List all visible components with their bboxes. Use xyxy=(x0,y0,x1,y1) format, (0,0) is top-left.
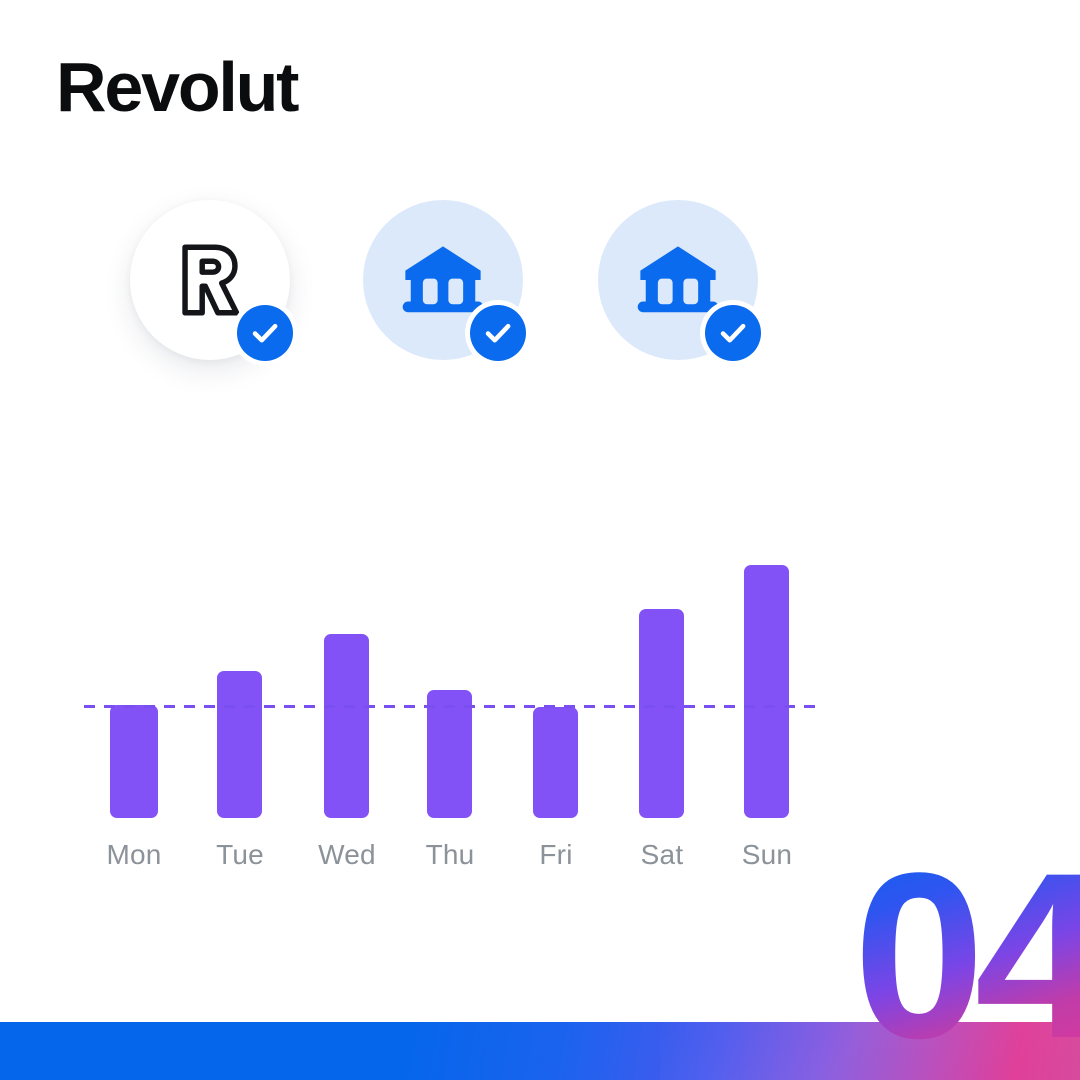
check-circle xyxy=(705,305,761,361)
x-tick-tue: Tue xyxy=(180,838,300,872)
check-icon xyxy=(482,317,514,349)
x-tick-wed: Wed xyxy=(287,838,407,872)
bar-wed xyxy=(324,634,369,818)
account-badge-bank-2[interactable] xyxy=(598,200,766,368)
x-tick-sat: Sat xyxy=(602,838,722,872)
x-tick-sun: Sun xyxy=(707,838,827,872)
check-icon xyxy=(717,317,749,349)
bar-sun xyxy=(744,565,789,818)
account-verified-badge xyxy=(700,300,766,366)
revolut-r-icon xyxy=(171,241,249,319)
bar-mon xyxy=(110,705,158,818)
x-tick-mon: Mon xyxy=(74,838,194,872)
account-badge-bank-1[interactable] xyxy=(363,200,531,368)
check-icon xyxy=(249,317,281,349)
account-verified-badge xyxy=(232,300,298,366)
revolut-wordmark: Revolut xyxy=(56,52,297,122)
chart-plot-area xyxy=(0,520,1080,820)
slide-canvas: Revolut xyxy=(0,0,1080,1080)
average-dashed-line xyxy=(84,705,818,708)
bar-thu xyxy=(427,690,472,818)
check-circle xyxy=(237,305,293,361)
bar-fri xyxy=(533,707,578,818)
slide-number: 04 xyxy=(853,838,1080,1074)
x-tick-thu: Thu xyxy=(390,838,510,872)
connected-accounts-row xyxy=(0,196,1080,396)
account-badge-revolut[interactable] xyxy=(130,200,298,368)
bar-tue xyxy=(217,671,262,818)
bar-sat xyxy=(639,609,684,818)
account-verified-badge xyxy=(465,300,531,366)
x-tick-fri: Fri xyxy=(496,838,616,872)
check-circle xyxy=(470,305,526,361)
